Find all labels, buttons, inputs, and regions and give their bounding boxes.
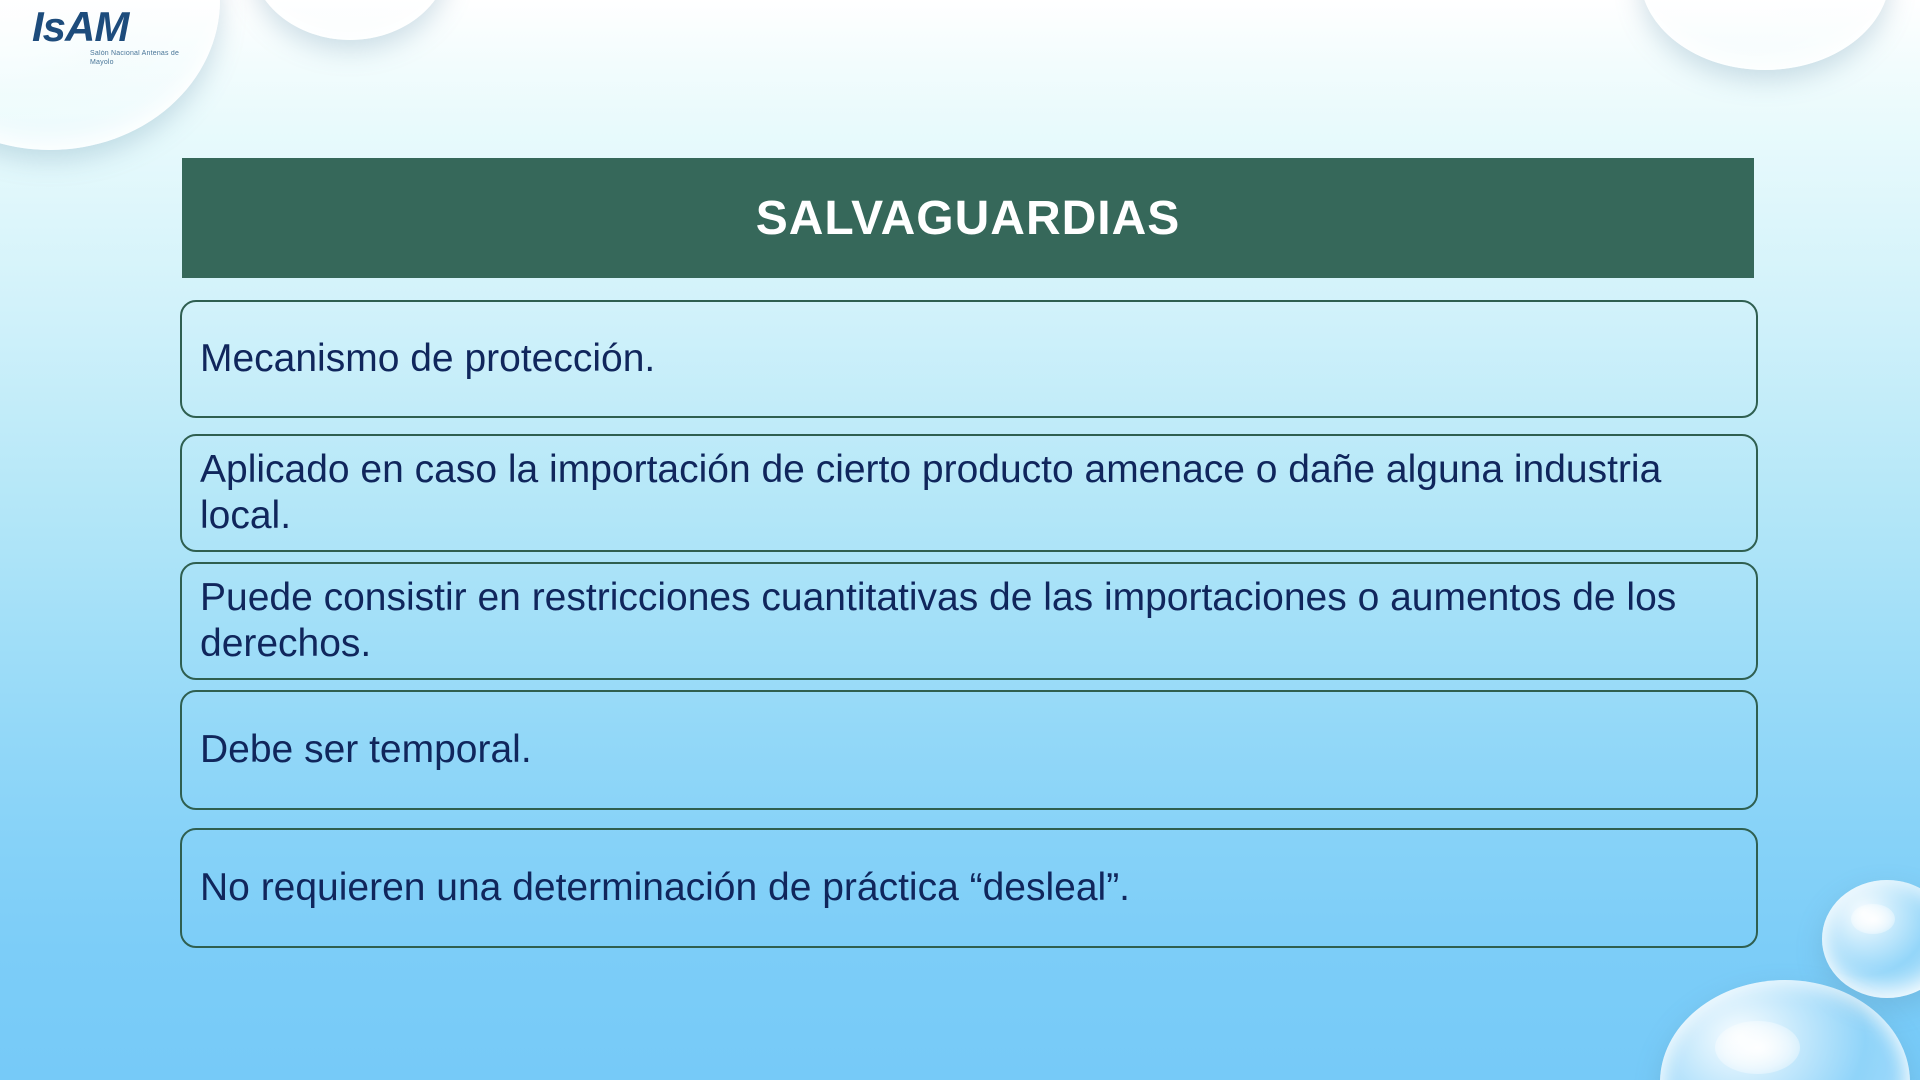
content-box-text: Mecanismo de protección. <box>200 336 1740 382</box>
content-box-text: Aplicado en caso la importación de ciert… <box>200 447 1740 538</box>
page-title: SALVAGUARDIAS <box>756 191 1181 246</box>
presentation-slide: IsAM Salón Nacional Antenas de Mayolo SA… <box>0 0 1920 1080</box>
droplet-top-left-small-icon <box>250 0 450 40</box>
droplet-bottom-right-small-icon <box>1822 880 1920 998</box>
droplet-bottom-right-large-icon <box>1660 980 1910 1080</box>
content-box-text: No requieren una determinación de prácti… <box>200 865 1740 911</box>
isam-logo: IsAM Salón Nacional Antenas de Mayolo <box>32 6 202 68</box>
content-box-text: Puede consistir en restricciones cuantit… <box>200 575 1740 666</box>
content-box: Mecanismo de protección. <box>180 300 1758 418</box>
slide-title-banner: SALVAGUARDIAS <box>182 158 1754 278</box>
content-box: Puede consistir en restricciones cuantit… <box>180 562 1758 680</box>
content-box: Aplicado en caso la importación de ciert… <box>180 434 1758 552</box>
content-box: Debe ser temporal. <box>180 690 1758 810</box>
isam-logo-subtitle: Salón Nacional Antenas de Mayolo <box>90 50 200 68</box>
content-box-text: Debe ser temporal. <box>200 727 1740 773</box>
droplet-top-right-icon <box>1640 0 1890 70</box>
content-box: No requieren una determinación de prácti… <box>180 828 1758 948</box>
content-box-list: Mecanismo de protección. Aplicado en cas… <box>180 300 1758 948</box>
isam-logo-wordmark: IsAM <box>32 6 202 48</box>
